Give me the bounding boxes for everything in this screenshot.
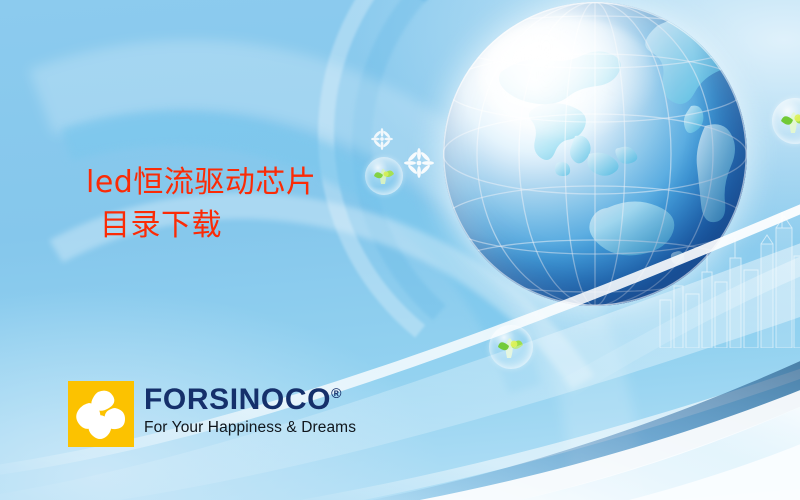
registered-trademark-symbol: ® [331,385,341,401]
headline-line-2: 目录下载 [86,205,416,248]
company-logo: FORSINOCO® For Your Happiness & Dreams [68,381,356,447]
logo-text-block: FORSINOCO® For Your Happiness & Dreams [144,381,356,436]
headline-line-1: led恒流驱动芯片 [86,165,316,200]
promo-banner: led恒流驱动芯片 目录下载 FORSINOCO® For Your Happi… [0,0,800,500]
logo-wordmark: FORSINOCO® [144,385,356,415]
four-petal-flower-icon [68,381,134,447]
logo-tagline: For Your Happiness & Dreams [144,419,356,436]
page-title: led恒流驱动芯片 目录下载 [86,162,416,247]
logo-wordmark-text: FORSINOCO [144,383,331,416]
